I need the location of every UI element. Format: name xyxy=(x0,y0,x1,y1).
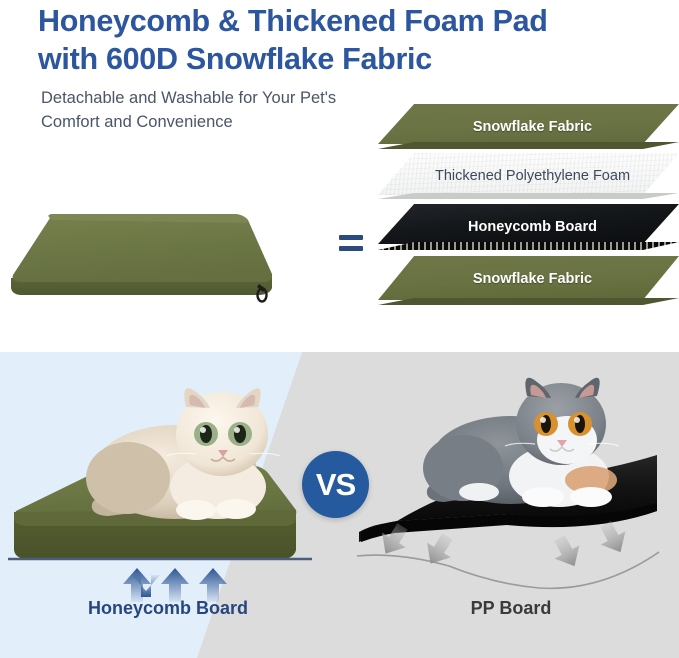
layer-snowflake-fabric-bottom: Snowflake Fabric xyxy=(378,256,679,302)
sagging-baseline xyxy=(357,552,659,588)
layer-label: Snowflake Fabric xyxy=(378,119,679,135)
vs-badge: VS xyxy=(302,451,369,518)
layer-slab-edge xyxy=(378,142,679,149)
layer-honeycomb-cells-edge xyxy=(378,242,679,250)
pp-board-label: PP Board xyxy=(343,598,679,619)
layer-slab-edge xyxy=(378,193,679,199)
layer-label: Snowflake Fabric xyxy=(378,271,679,287)
page-subtitle: Detachable and Washable for Your Pet's C… xyxy=(41,87,371,135)
layer-snowflake-fabric-top: Snowflake Fabric xyxy=(378,104,679,150)
layer-label: Honeycomb Board xyxy=(378,219,679,235)
layer-thickened-foam: Thickened Polyethylene Foam xyxy=(378,153,679,199)
cat-on-pp-board xyxy=(423,378,619,507)
honeycomb-board-label: Honeycomb Board xyxy=(0,598,336,619)
layer-honeycomb-board: Honeycomb Board xyxy=(378,204,679,250)
equals-icon xyxy=(339,235,363,255)
cat-on-honeycomb-mat xyxy=(86,388,280,520)
upward-force-arrows-group xyxy=(123,568,227,602)
layer-slab-edge xyxy=(378,298,679,305)
vs-label: VS xyxy=(316,469,355,500)
layer-stack-diagram: Snowflake Fabric Thickened Polyethylene … xyxy=(378,104,679,309)
product-mat-illustration xyxy=(8,196,318,306)
top-section: Honeycomb & Thickened Foam Pad with 600D… xyxy=(0,0,679,352)
product-infographic: Honeycomb & Thickened Foam Pad with 600D… xyxy=(0,0,679,658)
page-title: Honeycomb & Thickened Foam Pad with 600D… xyxy=(38,2,674,79)
layer-label: Thickened Polyethylene Foam xyxy=(378,168,679,184)
